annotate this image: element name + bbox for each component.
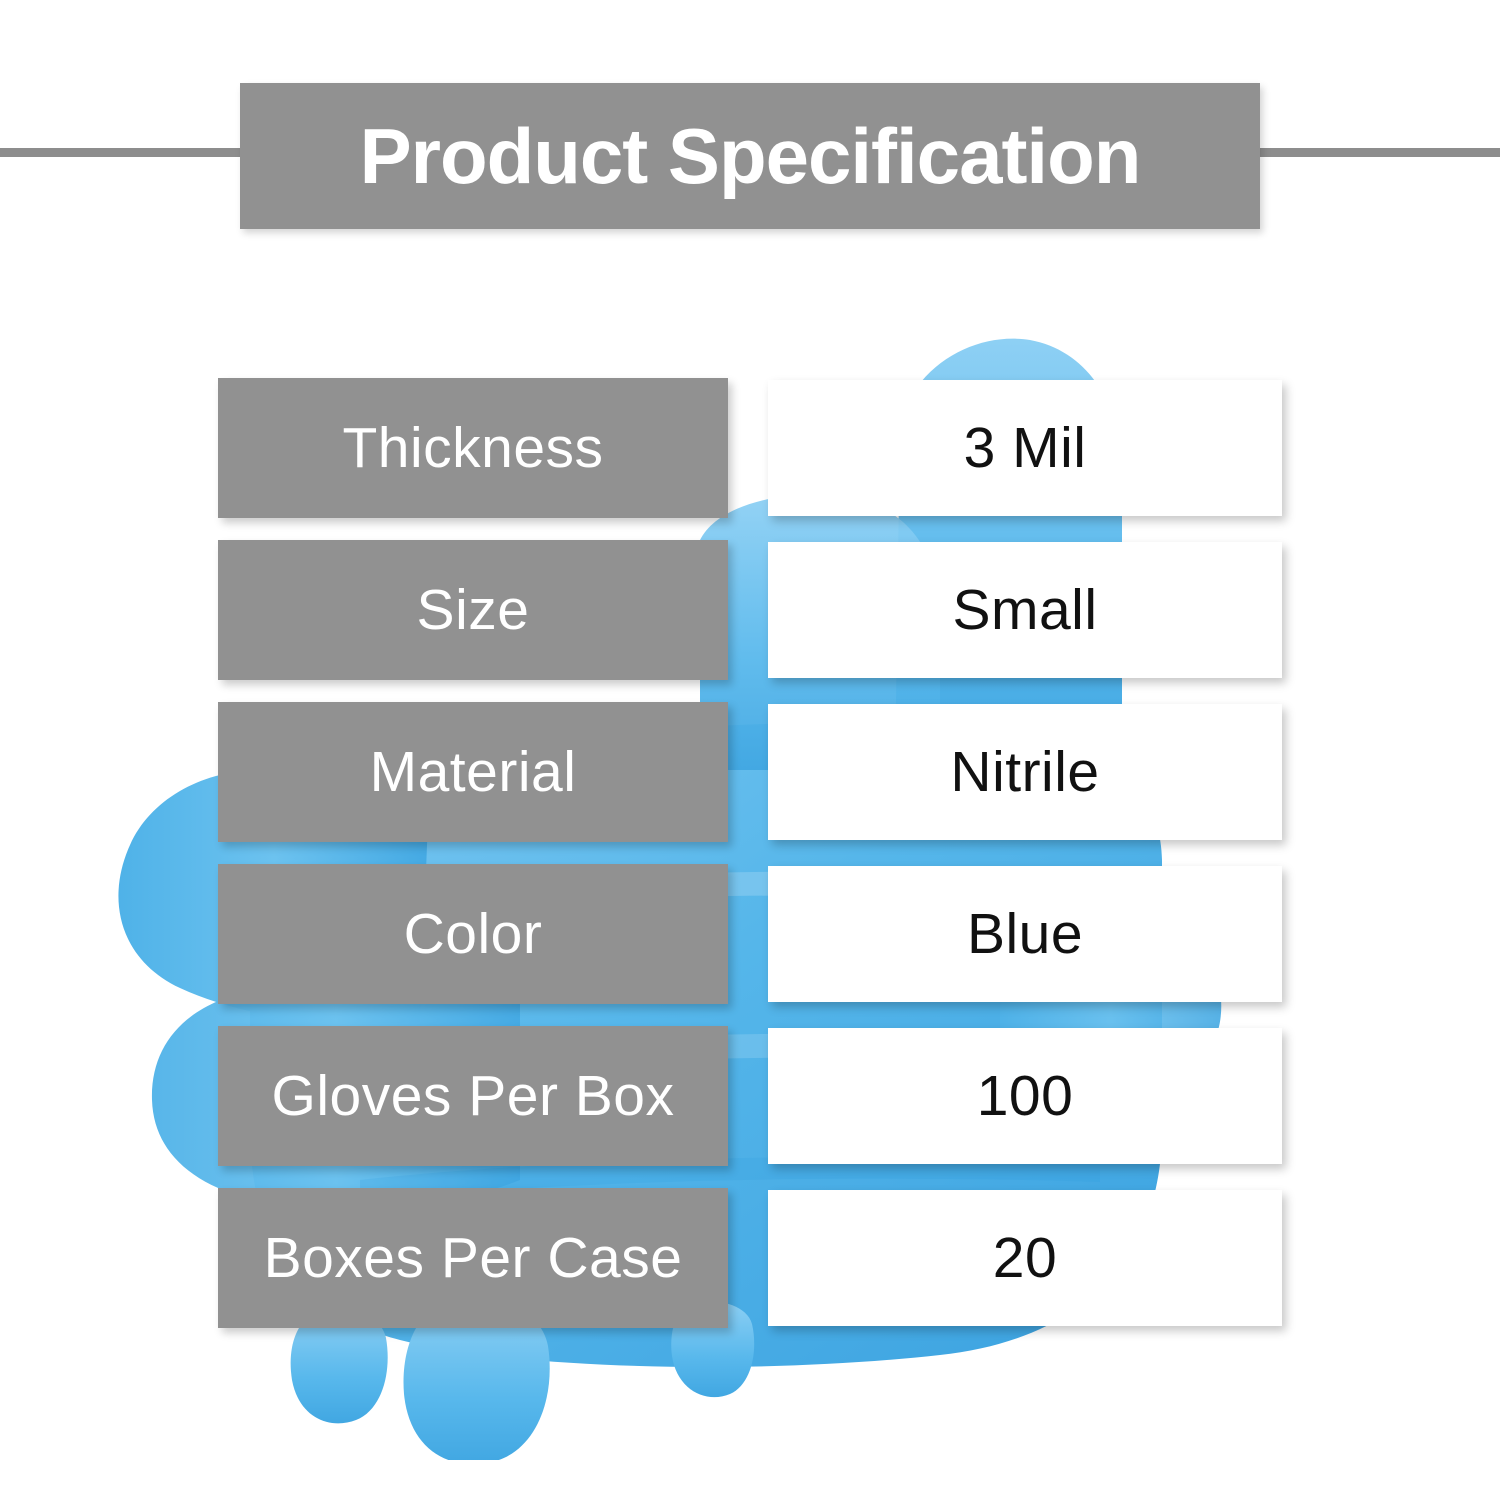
spec-label-text: Color [404,906,543,963]
product-specification-infographic: Product Specification [0,0,1500,1500]
spec-value-cell: 20 [768,1190,1282,1326]
spec-label-cell: Boxes Per Case [218,1188,728,1328]
spec-label-cell: Size [218,540,728,680]
spec-label-text: Boxes Per Case [264,1230,683,1287]
spec-label-text: Thickness [342,420,603,477]
spec-label-cell: Thickness [218,378,728,518]
spec-value-text: Blue [967,906,1083,963]
spec-value-cell: 3 Mil [768,380,1282,516]
spec-value-cell: Small [768,542,1282,678]
spec-value-text: Nitrile [950,744,1099,801]
spec-label-text: Gloves Per Box [272,1068,675,1125]
spec-value-cell: Nitrile [768,704,1282,840]
spec-value-text: Small [952,582,1097,639]
spec-label-text: Material [370,744,577,801]
spec-value-text: 100 [977,1068,1074,1125]
spec-label-cell: Color [218,864,728,1004]
spec-value-cell: Blue [768,866,1282,1002]
spec-value-text: 3 Mil [964,420,1087,477]
spec-label-text: Size [417,582,530,639]
spec-value-cell: 100 [768,1028,1282,1164]
spec-label-cell: Material [218,702,728,842]
spec-table: Thickness 3 Mil Size Small Material Nitr… [0,0,1500,1500]
spec-value-text: 20 [993,1230,1057,1287]
spec-label-cell: Gloves Per Box [218,1026,728,1166]
